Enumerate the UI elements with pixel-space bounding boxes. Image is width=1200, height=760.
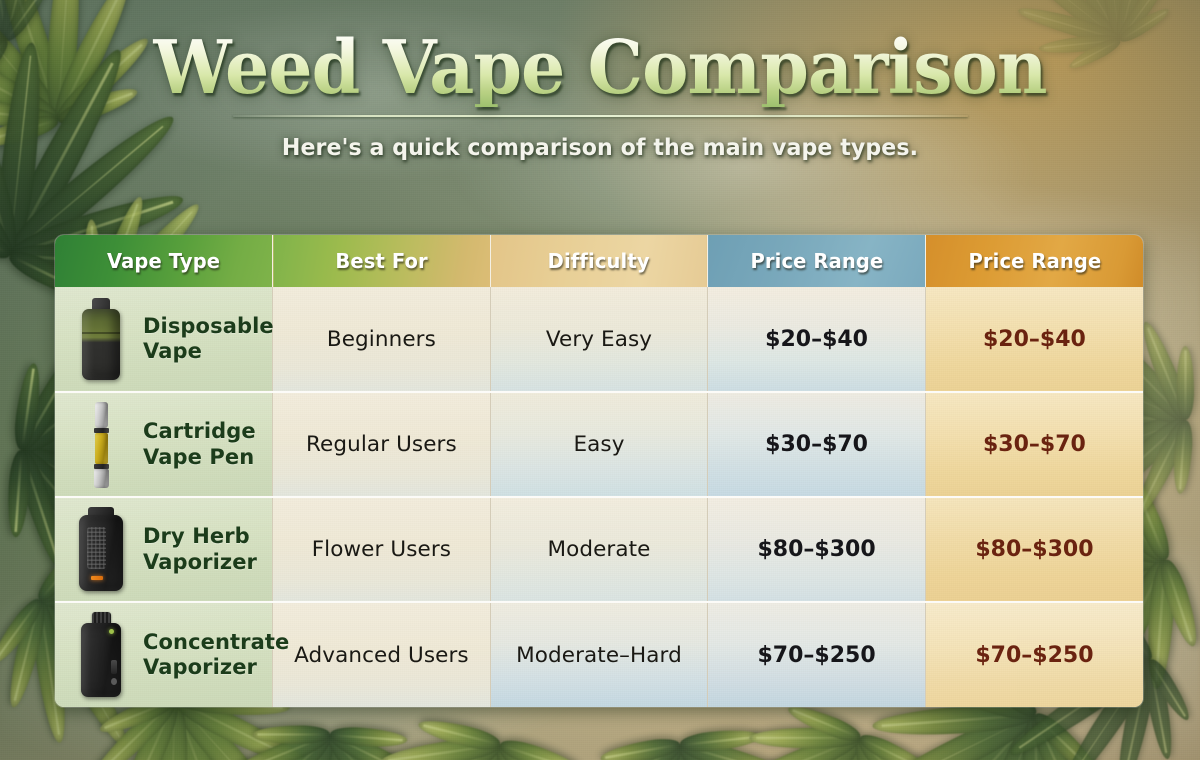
- vape-type-label: Dry Herb Vaporizer: [143, 524, 257, 574]
- column-header-best-for: Best For: [273, 235, 491, 287]
- vape-type-label-line1: Dry Herb: [143, 524, 257, 549]
- cell-difficulty: Easy: [490, 392, 708, 497]
- cell-difficulty: Moderate: [490, 497, 708, 602]
- vape-type-label: Disposable Vape: [143, 314, 274, 364]
- column-header-price-range-2-label: Price Range: [968, 249, 1101, 273]
- price-range-2-value: $70–$250: [975, 643, 1093, 668]
- vape-type-label-line1: Disposable: [143, 314, 274, 339]
- vape-comparison-table: Vape Type Best For Difficulty Price Rang…: [55, 235, 1143, 707]
- cell-price-range-2: $30–$70: [925, 392, 1143, 497]
- cell-best-for: Flower Users: [273, 497, 491, 602]
- title-divider: [233, 115, 968, 117]
- cell-price-range: $70–$250: [708, 602, 926, 707]
- difficulty-value: Very Easy: [546, 327, 652, 352]
- column-header-difficulty: Difficulty: [490, 235, 708, 287]
- disposable-vape-icon: [73, 296, 129, 382]
- best-for-value: Beginners: [327, 327, 436, 352]
- price-range-value: $30–$70: [765, 432, 868, 457]
- vape-type-label: Concentrate Vaporizer: [143, 630, 289, 680]
- column-header-price-range-2: Price Range: [925, 235, 1143, 287]
- cell-price-range-2: $20–$40: [925, 287, 1143, 392]
- price-range-value: $20–$40: [765, 327, 868, 352]
- cell-vape-type: Cartridge Vape Pen: [55, 392, 273, 497]
- cell-price-range: $80–$300: [708, 497, 926, 602]
- price-range-value: $80–$300: [758, 537, 876, 562]
- column-header-difficulty-label: Difficulty: [548, 249, 650, 273]
- cell-best-for: Regular Users: [273, 392, 491, 497]
- difficulty-value: Moderate: [547, 537, 650, 562]
- dry-herb-vaporizer-icon: [73, 507, 129, 593]
- cell-price-range-2: $70–$250: [925, 602, 1143, 707]
- cell-best-for: Advanced Users: [273, 602, 491, 707]
- column-header-vape-type: Vape Type: [55, 235, 273, 287]
- difficulty-value: Moderate–Hard: [516, 643, 682, 668]
- table-row: Dry Herb Vaporizer Flower Users Moderate…: [55, 497, 1143, 602]
- comparison-table-container: Vape Type Best For Difficulty Price Rang…: [55, 235, 1143, 707]
- price-range-value: $70–$250: [758, 643, 876, 668]
- price-range-2-value: $20–$40: [983, 327, 1086, 352]
- cell-price-range-2: $80–$300: [925, 497, 1143, 602]
- column-header-vape-type-label: Vape Type: [107, 249, 220, 273]
- table-head: Vape Type Best For Difficulty Price Rang…: [55, 235, 1143, 287]
- vape-type-label-line2: Vape Pen: [143, 445, 256, 470]
- page-title: Weed Vape Comparison: [36, 30, 1164, 107]
- table-row: Cartridge Vape Pen Regular Users Easy $3…: [55, 392, 1143, 497]
- best-for-value: Flower Users: [312, 537, 451, 562]
- best-for-value: Advanced Users: [294, 643, 469, 668]
- table-header-row: Vape Type Best For Difficulty Price Rang…: [55, 235, 1143, 287]
- vape-type-label-line2: Vaporizer: [143, 550, 257, 575]
- cartridge-vape-pen-icon: [73, 402, 129, 488]
- cell-vape-type: Dry Herb Vaporizer: [55, 497, 273, 602]
- cell-difficulty: Moderate–Hard: [490, 602, 708, 707]
- column-header-price-range-label: Price Range: [750, 249, 883, 273]
- best-for-value: Regular Users: [306, 432, 457, 457]
- cell-best-for: Beginners: [273, 287, 491, 392]
- price-range-2-value: $30–$70: [983, 432, 1086, 457]
- table-body: Disposable Vape Beginners Very Easy $20–…: [55, 287, 1143, 707]
- vape-type-label-line1: Cartridge: [143, 419, 256, 444]
- infographic-canvas: Weed Vape Comparison Here's a quick comp…: [0, 0, 1200, 760]
- price-range-2-value: $80–$300: [975, 537, 1093, 562]
- cell-vape-type: Disposable Vape: [55, 287, 273, 392]
- cell-price-range: $30–$70: [708, 392, 926, 497]
- header-block: Weed Vape Comparison Here's a quick comp…: [0, 0, 1200, 161]
- column-header-best-for-label: Best For: [335, 249, 427, 273]
- column-header-price-range: Price Range: [708, 235, 926, 287]
- cell-vape-type: Concentrate Vaporizer: [55, 602, 273, 707]
- table-row: Concentrate Vaporizer Advanced Users Mod…: [55, 602, 1143, 707]
- difficulty-value: Easy: [573, 432, 624, 457]
- concentrate-vaporizer-icon: [73, 612, 129, 698]
- cell-price-range: $20–$40: [708, 287, 926, 392]
- page-subtitle: Here's a quick comparison of the main va…: [24, 135, 1176, 161]
- cell-difficulty: Very Easy: [490, 287, 708, 392]
- table-row: Disposable Vape Beginners Very Easy $20–…: [55, 287, 1143, 392]
- vape-type-label-line1: Concentrate: [143, 630, 289, 655]
- vape-type-label: Cartridge Vape Pen: [143, 419, 256, 469]
- vape-type-label-line2: Vape: [143, 339, 274, 364]
- vape-type-label-line2: Vaporizer: [143, 655, 289, 680]
